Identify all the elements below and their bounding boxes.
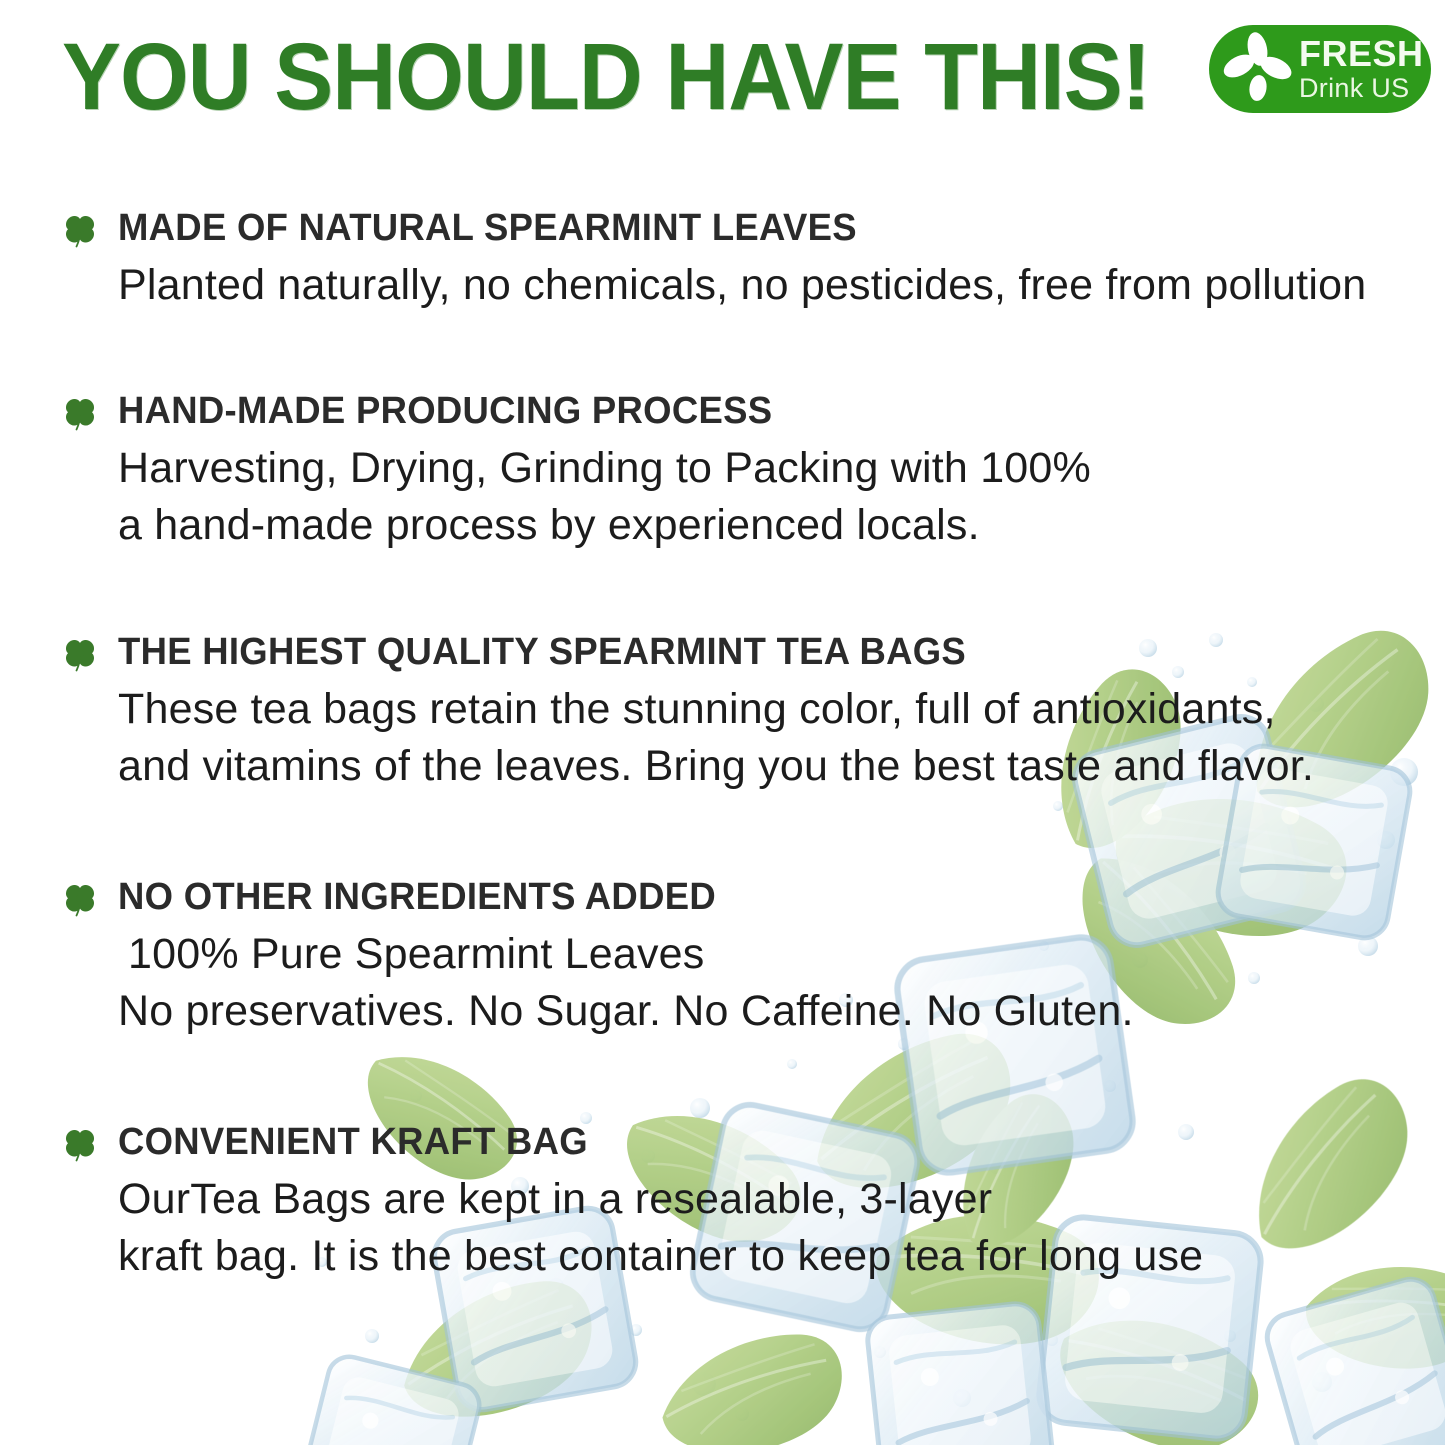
four-leaf-clover-icon — [60, 1124, 100, 1164]
feature-body-line: a hand-made process by experienced local… — [118, 497, 1091, 554]
feature-body: Planted naturally, no chemicals, no pest… — [118, 257, 1366, 314]
feature-title: THE HIGHEST QUALITY SPEARMINT TEA BAGS — [118, 630, 1266, 674]
page-title: YOU SHOULD HAVE THIS! — [62, 27, 1150, 127]
feature-item: NO OTHER INGREDIENTS ADDED 100% Pure Spe… — [0, 875, 1134, 1040]
leaf-cluster-icon — [1219, 30, 1297, 108]
logo-wordmark: FRESH Drink US — [1299, 36, 1424, 102]
fresh-drink-us-logo[interactable]: FRESH Drink US — [1209, 25, 1431, 113]
feature-body-line: 100% Pure Spearmint Leaves — [118, 926, 1134, 983]
feature-body-line: Harvesting, Drying, Grinding to Packing … — [118, 440, 1091, 497]
feature-body: OurTea Bags are kept in a resealable, 3-… — [118, 1171, 1203, 1285]
feature-body: Harvesting, Drying, Grinding to Packing … — [118, 440, 1091, 554]
four-leaf-clover-icon — [60, 634, 100, 674]
feature-title: NO OTHER INGREDIENTS ADDED — [118, 875, 1093, 919]
feature-body-line: No preservatives. No Sugar. No Caffeine.… — [118, 983, 1134, 1040]
feature-body-line: and vitamins of the leaves. Bring you th… — [118, 738, 1314, 795]
feature-body: These tea bags retain the stunning color… — [118, 681, 1314, 795]
four-leaf-clover-icon — [60, 393, 100, 433]
four-leaf-clover-icon — [60, 210, 100, 250]
feature-item: HAND-MADE PRODUCING PROCESS Harvesting, … — [0, 389, 1091, 554]
feature-body-line: kraft bag. It is the best container to k… — [118, 1228, 1203, 1285]
page-header: YOU SHOULD HAVE THIS! FRESH Drink US — [0, 0, 1445, 170]
content-layer: YOU SHOULD HAVE THIS! FRESH Drink US — [0, 0, 1445, 1445]
feature-title: MADE OF NATURAL SPEARMINT LEAVES — [118, 206, 1316, 250]
feature-item: MADE OF NATURAL SPEARMINT LEAVES Planted… — [0, 206, 1366, 314]
four-leaf-clover-icon — [60, 879, 100, 919]
logo-brand-secondary: Drink US — [1299, 75, 1424, 102]
feature-item: CONVENIENT KRAFT BAG OurTea Bags are kep… — [0, 1120, 1203, 1285]
feature-body-line: Planted naturally, no chemicals, no pest… — [118, 257, 1366, 314]
feature-body-line: OurTea Bags are kept in a resealable, 3-… — [118, 1171, 1203, 1228]
feature-title: CONVENIENT KRAFT BAG — [118, 1120, 1160, 1164]
feature-title: HAND-MADE PRODUCING PROCESS — [118, 389, 1052, 433]
logo-brand-primary: FRESH — [1299, 36, 1424, 72]
infographic-canvas: YOU SHOULD HAVE THIS! FRESH Drink US — [0, 0, 1445, 1445]
feature-body-line: These tea bags retain the stunning color… — [118, 681, 1314, 738]
feature-body: 100% Pure Spearmint Leaves No preservati… — [118, 926, 1134, 1040]
feature-item: THE HIGHEST QUALITY SPEARMINT TEA BAGS T… — [0, 630, 1314, 795]
leaf-cluster-icon-svg — [1219, 30, 1297, 108]
